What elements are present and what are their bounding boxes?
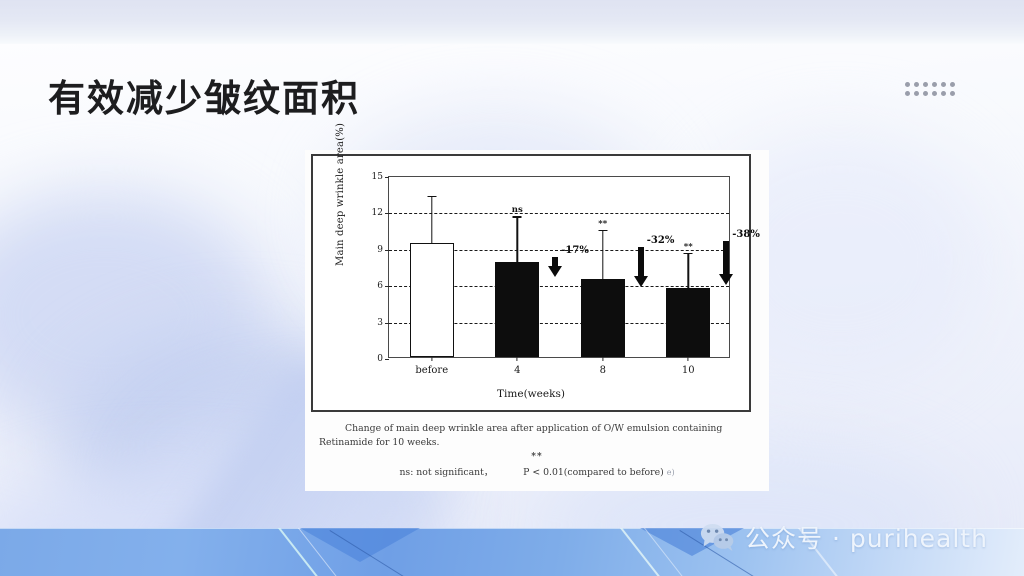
caption-significance-symbol: ** — [305, 452, 769, 462]
y-tick-label: 6 — [377, 281, 383, 291]
bar-group: **10 — [666, 175, 710, 357]
decoration-dot — [950, 91, 955, 96]
watermark-text: 公众号 · purihealth — [745, 519, 988, 555]
down-arrow-icon — [547, 257, 563, 277]
error-bar — [602, 230, 603, 280]
error-bar-cap — [513, 216, 522, 217]
y-tick-label: 3 — [377, 318, 383, 328]
x-tick-label-8: 8 — [600, 365, 606, 376]
caption-note-left: ns: not significant， — [399, 467, 493, 478]
decoration-dot — [932, 82, 937, 87]
x-tick-mark — [602, 357, 603, 361]
y-tick-mark — [385, 250, 389, 251]
band-chevron — [300, 528, 420, 562]
decoration-dot — [905, 91, 910, 96]
watermark: 公众号 · purihealth — [700, 519, 988, 555]
decoration-dot — [923, 82, 928, 87]
y-tick-mark — [385, 177, 389, 178]
y-axis-label: Main deep wrinkle area(%) — [335, 123, 346, 266]
decoration-dot — [932, 91, 937, 96]
bar-8 — [581, 279, 625, 357]
down-arrow-icon — [718, 241, 734, 285]
background-blob — [0, 190, 270, 440]
x-tick-label-before: before — [415, 365, 448, 376]
error-bar — [688, 253, 689, 288]
change-label: -38% — [732, 229, 760, 240]
bar-group: **8 — [581, 175, 625, 357]
x-tick-label-10: 10 — [682, 365, 695, 376]
background-top-band — [0, 0, 1024, 44]
error-bar — [517, 216, 518, 262]
significance-label: ns — [512, 205, 523, 215]
significance-label: ** — [598, 219, 607, 229]
caption-line-2: Retinamide for 10 weeks. — [319, 437, 439, 448]
decoration-dot — [950, 82, 955, 87]
down-arrow-icon — [633, 247, 649, 287]
decoration-dot — [941, 82, 946, 87]
figure-border-box: Main deep wrinkle area(%) 03691215before… — [311, 154, 751, 412]
bar-4 — [495, 262, 539, 357]
x-axis-label: Time(weeks) — [313, 388, 749, 400]
x-tick-label-4: 4 — [514, 365, 520, 376]
figure-panel: Main deep wrinkle area(%) 03691215before… — [305, 150, 769, 491]
error-bar-cap — [598, 230, 607, 231]
y-tick-mark — [385, 213, 389, 214]
error-bar-cap — [427, 196, 436, 197]
decoration-dot — [923, 91, 928, 96]
y-tick-label: 0 — [377, 354, 383, 364]
y-tick-label: 9 — [377, 245, 383, 255]
error-bar — [431, 196, 432, 243]
caption-note-right: P < 0.01(compared to before) — [523, 467, 664, 478]
x-tick-mark — [688, 357, 689, 361]
bar-group: before — [410, 175, 454, 357]
y-tick-mark — [385, 286, 389, 287]
caption-line-1: Change of main deep wrinkle area after a… — [345, 423, 722, 434]
y-tick-label: 12 — [372, 208, 383, 218]
bar-10 — [666, 288, 710, 357]
y-tick-mark — [385, 323, 389, 324]
y-tick-label: 15 — [372, 172, 383, 182]
slide-canvas: 有效减少皱纹面积 Main deep wrinkle area(%) 03691… — [0, 0, 1024, 576]
page-title: 有效减少皱纹面积 — [48, 68, 360, 122]
dot-grid-decoration — [905, 82, 959, 100]
x-tick-mark — [431, 357, 432, 361]
caption-note-tail: e) — [667, 468, 675, 477]
decoration-dot — [914, 91, 919, 96]
x-tick-mark — [517, 357, 518, 361]
decoration-dot — [914, 82, 919, 87]
error-bar-cap — [684, 253, 693, 254]
decoration-dot — [905, 82, 910, 87]
significance-label: ** — [684, 242, 693, 252]
decoration-dot — [941, 91, 946, 96]
caption-note: ns: not significant， P < 0.01(compared t… — [305, 464, 769, 478]
y-tick-mark — [385, 359, 389, 360]
bar-before — [410, 243, 454, 357]
bar-group: ns4 — [495, 175, 539, 357]
chart-plot-area: 03691215beforens4-17%**8-32%**10-38% — [388, 176, 730, 358]
wechat-icon — [700, 523, 736, 551]
figure-caption: Change of main deep wrinkle area after a… — [319, 422, 751, 451]
